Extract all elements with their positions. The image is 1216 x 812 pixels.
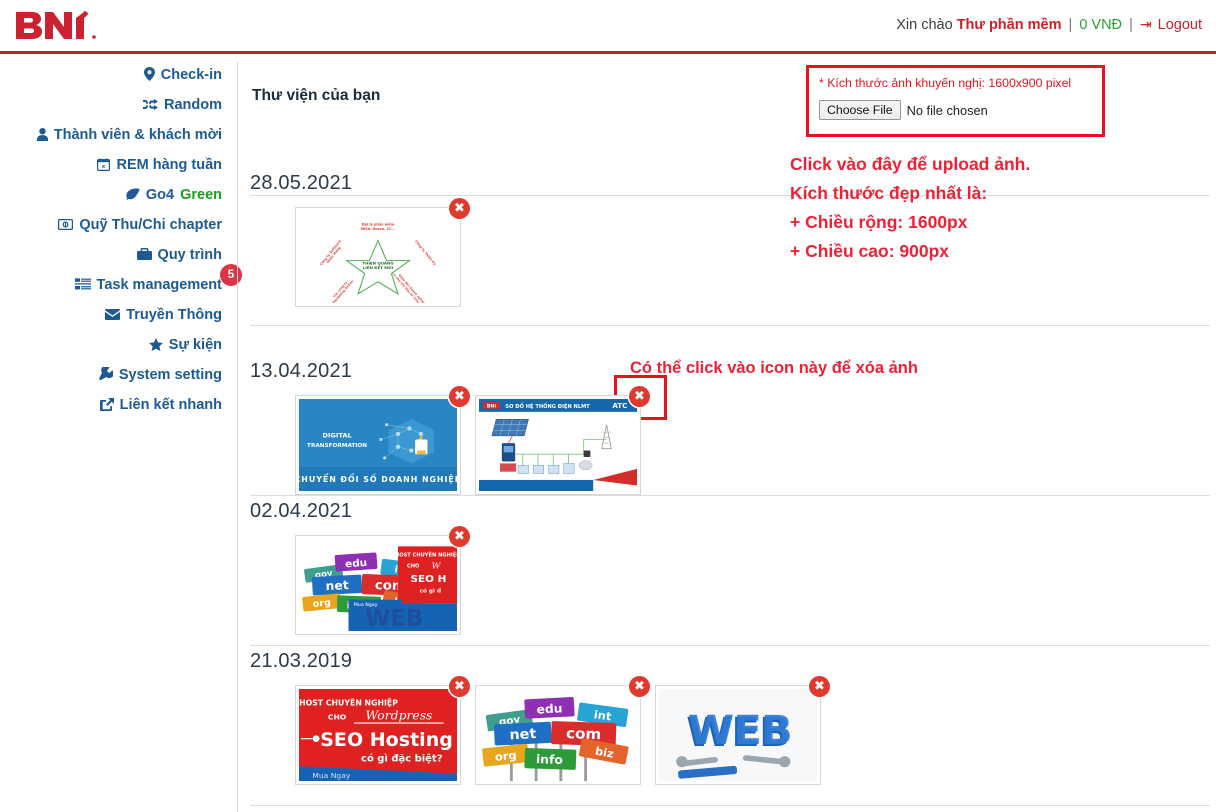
svg-text:có gì đặc biệt?: có gì đặc biệt? [361,753,443,765]
sidebar-item-li-n-k-t-nhanh[interactable]: Liên kết nhanh [0,390,238,420]
svg-text:CHUYỂN ĐỔI SỐ DOANH NGHIỆP: CHUYỂN ĐỔI SỐ DOANH NGHIỆP [299,474,457,484]
leaf-icon [126,188,140,202]
svg-text:net: net [325,578,349,593]
svg-text:edu: edu [536,701,563,716]
svg-text:CHO: CHO [407,564,420,570]
svg-text:org: org [312,597,331,610]
delete-image-icon[interactable]: ✖ [449,526,470,547]
library-thumbnail[interactable]: BNi SƠ ĐỒ HỆ THỐNG ĐIỆN NLMT ATC [475,395,641,495]
library-thumbnail[interactable]: gov edu int net com org info biz ✖ [475,685,641,785]
delete-image-icon[interactable]: ✖ [449,386,470,407]
thumbnail-image: BNi SƠ ĐỒ HỆ THỐNG ĐIỆN NLMT ATC [479,399,637,491]
thumbnail-image: WEB WEB [659,689,817,781]
svg-text:SEO H: SEO H [410,573,446,585]
svg-text:info: info [536,752,563,767]
shuffle-icon [143,98,158,113]
sidebar-item-label: System setting [119,367,222,383]
greeting-text: Xin chào [896,17,952,33]
group-divider [250,495,1210,496]
thumbnail-row: THIÊN QUANG LIÊN KẾT MỚI Đại lý phần mềm… [250,207,1210,307]
sidebar-item-label: Quỹ Thu/Chi chapter [79,217,222,233]
sidebar-item-label: Check-in [161,67,222,83]
thumbnail-image: HOST CHUYÊN NGHIỆP CHO Wordpress SEO Hos… [299,689,457,781]
svg-text:MISA, Bravo, 1C...: MISA, Bravo, 1C... [361,227,396,231]
sidebar-item-s-ki-n[interactable]: Sự kiện [0,330,238,360]
calendar-icon: x [97,158,110,173]
svg-text:LIÊN KẾT MỚI: LIÊN KẾT MỚI [363,264,394,270]
thumbnail-image: gov edu int net com org info biz [479,689,637,781]
svg-text:net: net [509,726,537,743]
map-pin-icon [144,67,155,83]
svg-text:Mua Ngay: Mua Ngay [312,771,351,780]
group-date-label: 13.04.2021 [250,360,1210,383]
no-file-chosen-label: No file chosen [907,103,988,118]
group-divider [250,325,1210,326]
svg-text:WEB: WEB [688,707,792,754]
sidebar-item-label: Sự kiện [169,337,222,353]
separator-2: | [1129,17,1133,33]
page-header: Xin chào Thư phần mềm | 0 VNĐ | ⇥ Logout [0,0,1216,52]
thumbnail-image: DIGITAL TRANSFORMATION CHUYỂN ĐỔI SỐ DOA… [299,399,457,491]
tasks-icon [75,278,91,292]
sidebar-item-system-setting[interactable]: System setting [0,360,238,390]
star-icon [149,338,163,353]
delete-image-icon[interactable]: ✖ [629,676,650,697]
group-date-label: 02.04.2021 [250,500,1210,523]
thumbnail-image: gov edu int net com org info biz HOST CH… [299,539,457,631]
sidebar-item-label: Truyền Thông [126,307,222,323]
thumbnail-image: THIÊN QUANG LIÊN KẾT MỚI Đại lý phần mềm… [299,211,457,303]
sidebar-item-qu-thu-chi-chapter[interactable]: Quỹ Thu/Chi chapter [0,210,238,240]
svg-text:HOST CHUYÊN NGHIỆP: HOST CHUYÊN NGHIỆP [299,699,398,708]
sidebar-item-rem-h-ng-tu-n[interactable]: xREM hàng tuần [0,150,238,180]
header-user-area: Xin chào Thư phần mềm | 0 VNĐ | ⇥ Logout [896,16,1202,33]
sidebar-item-label: REM hàng tuần [116,157,222,173]
envelope-icon [105,309,120,322]
svg-text:Mua Ngay: Mua Ngay [354,602,378,608]
svg-text:Wordpress: Wordpress [365,709,432,723]
file-input-row[interactable]: Choose File No file chosen [819,100,1092,120]
sidebar-item-label: Liên kết nhanh [120,397,222,413]
library-thumbnail[interactable]: DIGITAL TRANSFORMATION CHUYỂN ĐỔI SỐ DOA… [295,395,461,495]
wrench-icon [99,367,113,383]
sidebar-item-label: Task management [97,277,222,293]
library-date-group: 21.03.2019 HOST CHUYÊN NGHIỆP CHO Wordpr… [250,650,1210,785]
sidebar-item-label-accent: Green [180,187,222,203]
thumbnail-row: HOST CHUYÊN NGHIỆP CHO Wordpress SEO Hos… [250,685,1210,785]
svg-text:x: x [102,164,106,170]
library-date-group: 02.04.2021 gov edu int net com org info … [250,500,1210,635]
svg-text:edu: edu [345,557,368,570]
bni-logo[interactable] [14,10,100,40]
sidebar-item-random[interactable]: Random [0,90,238,120]
svg-text:WEB: WEB [365,606,423,631]
group-divider [250,805,1210,806]
svg-text:DIGITAL: DIGITAL [322,432,351,440]
svg-text:SEO Hosting: SEO Hosting [320,730,453,751]
svg-text:TRANSFORMATION: TRANSFORMATION [307,443,367,449]
sidebar-item-label: Go4 [146,187,174,203]
svg-text:ATC: ATC [612,401,627,410]
svg-text:W: W [432,561,442,571]
sidebar: Check-inRandomThành viên & khách mờixREM… [0,60,238,812]
svg-text:CHO: CHO [328,712,346,721]
thumbnail-row: gov edu int net com org info biz HOST CH… [250,535,1210,635]
choose-file-button[interactable]: Choose File [819,100,901,120]
header-red-rule [0,51,1216,54]
svg-text:HOST CHUYÊN NGHIỆP: HOST CHUYÊN NGHIỆP [395,551,457,559]
upload-panel[interactable]: * Kích thước ảnh khuyến nghị: 1600x900 p… [806,65,1105,137]
sidebar-item-label: Random [164,97,222,113]
library-thumbnail[interactable]: WEB WEB ✖ [655,685,821,785]
balance-label: 0 VNĐ [1079,17,1122,33]
sidebar-menu: Check-inRandomThành viên & khách mờixREM… [0,60,238,420]
library-thumbnail[interactable]: HOST CHUYÊN NGHIỆP CHO Wordpress SEO Hos… [295,685,461,785]
sidebar-item-check-in[interactable]: Check-in [0,60,238,90]
delete-image-icon[interactable]: ✖ [449,198,470,219]
sign-out-icon: ⇥ [1140,16,1152,32]
svg-text:có gì đ: có gì đ [420,587,441,594]
delete-image-icon[interactable]: ✖ [449,676,470,697]
sidebar-item-th-nh-vi-n-kh-ch-m-i[interactable]: Thành viên & khách mời [0,120,238,150]
sidebar-item-label: Thành viên & khách mời [54,127,222,143]
group-date-label: 21.03.2019 [250,650,1210,673]
sidebar-item-task-management[interactable]: Task management5 [0,270,238,300]
group-divider [250,645,1210,646]
separator-1: | [1069,17,1073,33]
library-thumbnail[interactable]: THIÊN QUANG LIÊN KẾT MỚI Đại lý phần mềm… [295,207,461,307]
library-date-group: 13.04.2021 DIGITAL TRANSFORMATION CHUYỂN… [250,360,1210,495]
username-label: Thư phần mềm [957,17,1062,33]
group-date-label: 28.05.2021 [250,172,1210,195]
user-icon [37,128,48,143]
external-link-icon [100,398,114,413]
library-date-group: 28.05.2021 THIÊN QUANG LIÊN KẾT MỚI Đại … [250,172,1210,307]
sidebar-item-truy-n-th-ng[interactable]: Truyền Thông [0,300,238,330]
sidebar-item-go4green[interactable]: Go4Green [0,180,238,210]
svg-text:BNi: BNi [487,404,497,410]
main-content: Thư viện của bạn * Kích thước ảnh khuyến… [238,60,1216,812]
page-title: Thư viện của bạn [252,87,380,105]
sidebar-item-label: Quy trình [158,247,222,263]
svg-text:org: org [494,749,517,764]
sidebar-item-quy-tr-nh[interactable]: Quy trình [0,240,238,270]
library-thumbnail[interactable]: gov edu int net com org info biz HOST CH… [295,535,461,635]
app-root: Xin chào Thư phần mềm | 0 VNĐ | ⇥ Logout… [0,0,1216,812]
delete-image-icon[interactable]: ✖ [809,676,830,697]
svg-text:int: int [593,708,613,723]
logout-button[interactable]: Logout [1158,17,1202,33]
money-icon [58,219,73,232]
delete-image-icon[interactable]: ✖ [629,386,650,407]
briefcase-icon [137,248,152,262]
upload-size-hint: * Kích thước ảnh khuyến nghị: 1600x900 p… [819,76,1092,90]
thumbnail-row: DIGITAL TRANSFORMATION CHUYỂN ĐỔI SỐ DOA… [250,395,1210,495]
